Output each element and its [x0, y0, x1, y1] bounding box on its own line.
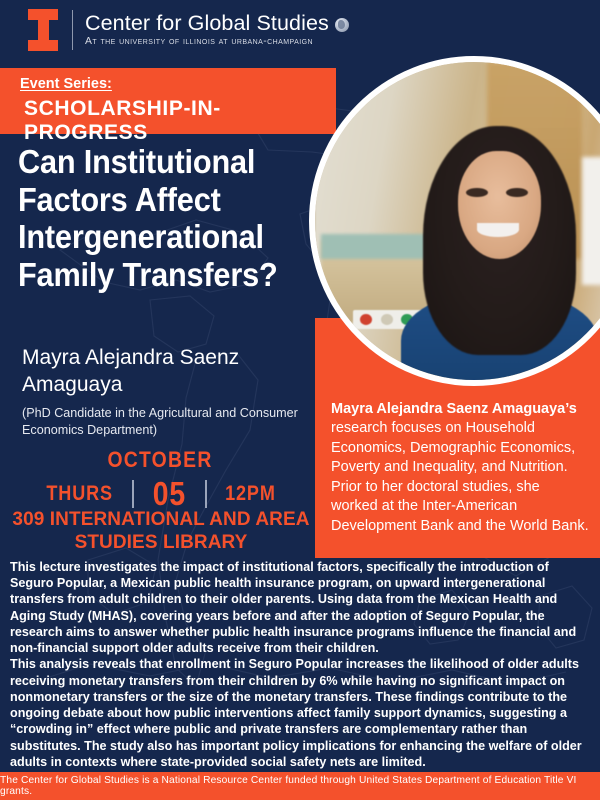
footer-text: The Center for Global Studies is a Natio…: [0, 775, 600, 797]
org-title: Center for Global Studies: [85, 13, 329, 35]
speaker-photo: [309, 56, 600, 386]
brand-divider: [72, 10, 73, 50]
event-time: 12PM: [213, 482, 288, 506]
globe-icon: [335, 18, 349, 32]
event-day-of-week: THURS: [34, 482, 125, 506]
abstract-paragraph-1: This lecture investigates the impact of …: [10, 559, 592, 656]
speaker-role: (PhD Candidate in the Agricultural and C…: [22, 405, 318, 438]
date-separator-left: [132, 480, 134, 508]
illinois-block-i-logo: [28, 9, 58, 51]
speaker-bio-name: Mayra Alejandra Saenz Amaguaya’s: [331, 401, 577, 417]
abstract-paragraph-2: This analysis reveals that enrollment in…: [10, 656, 592, 770]
event-series-label: Event Series:: [20, 76, 112, 92]
event-date-block: OCTOBER THURS 05 12PM: [0, 447, 320, 513]
event-series-name: SCHOLARSHIP-IN-PROGRESS: [24, 97, 336, 145]
brand-lockup: Center for Global Studies At the Univers…: [28, 9, 349, 51]
brand-text: Center for Global Studies At the Univers…: [85, 13, 349, 48]
poster-header: Center for Global Studies At the Univers…: [0, 0, 600, 68]
speaker-name: Mayra Alejandra Saenz Amaguaya: [22, 345, 322, 399]
poster-footer: The Center for Global Studies is a Natio…: [0, 772, 600, 800]
event-title: Can Institutional Factors Affect Interge…: [18, 143, 297, 293]
speaker-bio-body: research focuses on Household Economics,…: [331, 420, 589, 533]
org-subtitle: At the University of Illinois at Urbana-…: [85, 36, 349, 47]
event-poster: Center for Global Studies At the Univers…: [0, 0, 600, 800]
org-title-row: Center for Global Studies: [85, 13, 349, 35]
event-month: OCTOBER: [19, 447, 301, 473]
event-abstract: This lecture investigates the impact of …: [10, 559, 592, 770]
date-separator-right: [205, 480, 207, 508]
speaker-bio-text: Mayra Alejandra Saenz Amaguaya’s researc…: [331, 400, 589, 536]
event-series-banner: Event Series: SCHOLARSHIP-IN-PROGRESS: [0, 68, 336, 134]
event-venue: 309 INTERNATIONAL AND AREA STUDIES LIBRA…: [8, 508, 314, 554]
